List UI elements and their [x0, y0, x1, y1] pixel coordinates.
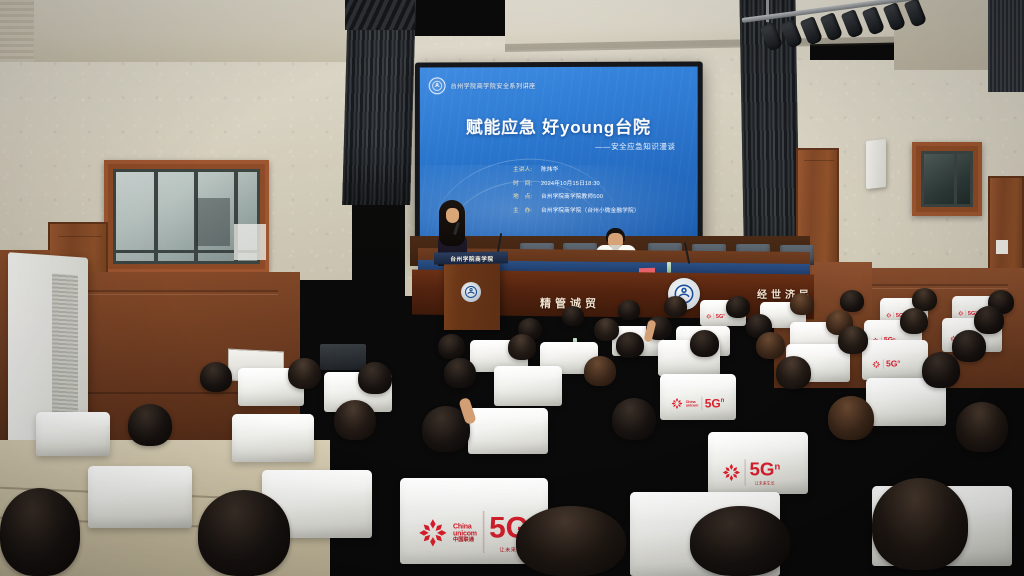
audience-head [922, 352, 960, 388]
lecture-hall-photo: 台州学院商学院安全系列讲座 赋能应急 好young台院 ——安全应急知识漫谈 主… [0, 0, 1024, 576]
audience-head [776, 356, 811, 389]
audience-head [128, 404, 172, 446]
audience-head [618, 300, 640, 320]
audience-head [838, 326, 868, 354]
right-window-glass [921, 151, 973, 207]
slide-detail-row: 主 办: 台州学院商学院（台州小微金融学院） [513, 205, 640, 213]
china-unicom-logo-icon [958, 310, 964, 316]
detail-value: 台州学院商学院教师500 [541, 192, 603, 200]
audience-head [508, 334, 536, 360]
stage-curtain-left [342, 0, 416, 205]
audience-head-foreground [690, 506, 790, 576]
slide-header-text: 台州学院商学院安全系列讲座 [451, 81, 536, 90]
audience-head [790, 293, 814, 315]
audience-head [444, 358, 476, 388]
slide-detail-row: 时 间: 2024年10月15日18:30 [513, 178, 640, 186]
audience-chair [88, 466, 192, 528]
audience-head [584, 356, 616, 386]
audience-head [828, 396, 874, 440]
china-unicom-logo-icon [872, 360, 881, 369]
five-g-tagline: 让未来生长 [755, 481, 775, 486]
audience-head [952, 330, 986, 362]
left-window [104, 160, 269, 273]
left-window-glass [113, 169, 260, 264]
china-unicom-logo-icon [418, 517, 448, 547]
unicom-brand-en2: unicom [686, 404, 699, 408]
audience-chair [468, 408, 548, 454]
audience-head [438, 334, 465, 359]
audience-head [756, 332, 785, 359]
audience-head [900, 308, 928, 334]
audience-head [612, 398, 656, 440]
china-unicom-logo-icon [706, 313, 712, 319]
equipment-case [320, 344, 366, 370]
audience-head [974, 306, 1004, 334]
slide-main-title: 赋能应急 好young台院 [420, 113, 698, 138]
audience-head [726, 296, 750, 318]
wall-mounted-unit [866, 139, 886, 189]
podium-label: 台州学院商学院 [437, 255, 507, 263]
detail-label: 地 点: [513, 192, 541, 200]
audience-head-foreground [872, 478, 968, 570]
audience-head-foreground [516, 506, 626, 576]
audience-chair: China unicom 5Gn [660, 374, 736, 420]
detail-label: 主讲人: [513, 165, 541, 173]
university-emblem-icon [429, 77, 446, 94]
slide-header: 台州学院商学院安全系列讲座 [429, 77, 536, 94]
slide-subtitle: ——安全应急知识漫谈 [595, 141, 675, 152]
audience-head [288, 358, 321, 389]
right-window [912, 142, 982, 216]
audience-head [690, 330, 719, 357]
audience-head [200, 362, 232, 392]
detail-value: 陈炜华 [541, 165, 558, 173]
audience-chair [232, 414, 314, 462]
audience-head [616, 332, 644, 358]
audience-head [664, 296, 687, 317]
podium-school-emblem-icon [461, 282, 481, 302]
slide-detail-row: 地 点: 台州学院商学院教师500 [513, 192, 640, 200]
detail-label: 时 间: [513, 178, 541, 186]
audience-head-foreground [0, 488, 80, 576]
slide-detail-row: 主讲人: 陈炜华 [513, 165, 640, 173]
detail-value: 2024年10月15日18:30 [541, 178, 600, 186]
audience-head [562, 306, 584, 326]
ceiling-left-soffit [0, 0, 352, 62]
audience-head [840, 290, 864, 312]
detail-label: 主 办: [513, 205, 541, 213]
detail-value: 台州学院商学院（台州小微金融学院） [541, 205, 640, 213]
audience-head [956, 402, 1008, 452]
unicom-brand-cn: 中国联通 [453, 536, 477, 541]
slide-details-list: 主讲人: 陈炜华 时 间: 2024年10月15日18:30 地 点: 台州学院… [513, 165, 640, 214]
china-unicom-logo-icon [671, 398, 683, 410]
presenter-face [446, 208, 459, 223]
audience-head [334, 400, 376, 440]
stage-curtain-left-valance [345, 0, 415, 30]
audience-chair: 5Gn 让未来生长 [708, 432, 808, 494]
china-unicom-logo-icon [886, 312, 892, 318]
stage-curtain-far-right [988, 0, 1024, 92]
audience-head-foreground [198, 490, 290, 576]
water-bottle [667, 262, 671, 273]
audience-head [358, 362, 392, 394]
audience-head [594, 318, 619, 341]
china-unicom-logo-icon [722, 463, 741, 482]
audience-chair [36, 412, 110, 456]
audience-chair: 5Gn [862, 340, 928, 380]
presenter-hair [439, 200, 465, 246]
audience-chair [494, 366, 562, 406]
